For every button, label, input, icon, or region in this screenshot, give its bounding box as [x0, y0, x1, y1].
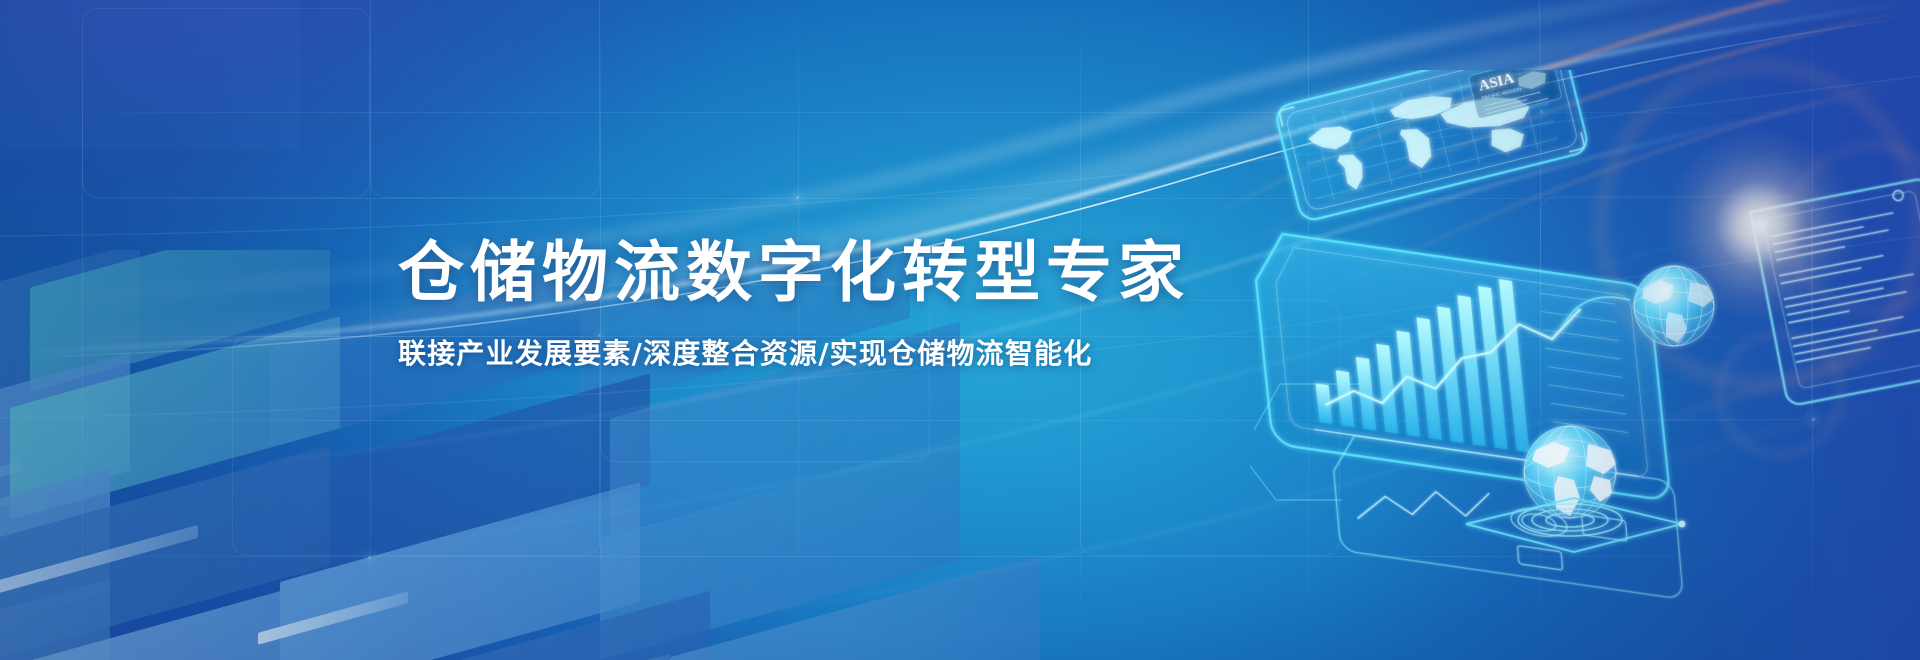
hero-banner: ASIA PACIFIC REGION: [0, 0, 1920, 660]
page-subtitle: 联接产业发展要素/深度整合资源/实现仓储物流智能化: [398, 332, 1338, 372]
hero-copy-block: 仓储物流数字化转型专家 联接产业发展要素/深度整合资源/实现仓储物流智能化: [398, 238, 1338, 372]
page-title: 仓储物流数字化转型专家: [398, 238, 1338, 308]
